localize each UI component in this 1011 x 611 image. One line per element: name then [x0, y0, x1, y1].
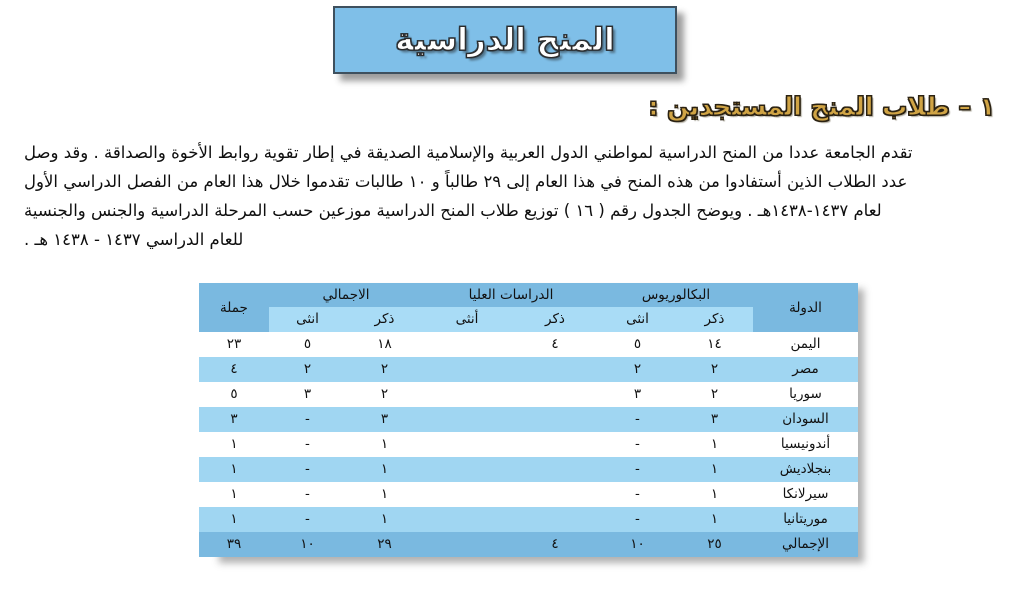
- table-body: اليمن١٤٥٤١٨٥٢٣مصر٢٢٢٢٤سوريا٢٣٢٣٥السودان٣…: [199, 332, 858, 532]
- cell-country: سيرلانكا: [753, 482, 858, 507]
- paragraph-line-4: للعام الدراسي ١٤٣٧ - ١٤٣٨ هـ .: [24, 225, 989, 254]
- cell-total-female: -: [269, 407, 346, 432]
- table-row: اليمن١٤٥٤١٨٥٢٣: [199, 332, 858, 357]
- cell-graduate-male: ٤: [511, 332, 599, 357]
- subheader-bachelor-female: انثى: [599, 307, 676, 332]
- cell-country: أندونيسيا: [753, 432, 858, 457]
- title-banner-container: المنح الدراسية: [333, 6, 677, 74]
- cell-graduate-female: [423, 482, 511, 507]
- table-row: سوريا٢٣٢٣٥: [199, 382, 858, 407]
- cell-sum: ١: [199, 432, 269, 457]
- cell-bachelor-male: ١: [676, 432, 753, 457]
- paragraph-line-1: تقدم الجامعة عددا من المنح الدراسية لموا…: [24, 138, 989, 167]
- cell-total-male: ١: [346, 507, 423, 532]
- table-row: موريتانيا١-١-١: [199, 507, 858, 532]
- cell-graduate-male: [511, 407, 599, 432]
- cell-bachelor-male: ٢: [676, 357, 753, 382]
- header-bachelor: البكالوريوس: [599, 283, 753, 307]
- total-cell-bachelor-female: ١٠: [599, 532, 676, 557]
- cell-graduate-female: [423, 407, 511, 432]
- table-row: سيرلانكا١-١-١: [199, 482, 858, 507]
- cell-graduate-female: [423, 432, 511, 457]
- cell-total-female: ٣: [269, 382, 346, 407]
- cell-graduate-female: [423, 382, 511, 407]
- cell-bachelor-female: -: [599, 407, 676, 432]
- total-cell-total-male: ٢٩: [346, 532, 423, 557]
- cell-bachelor-male: ٣: [676, 407, 753, 432]
- cell-graduate-male: [511, 382, 599, 407]
- paragraph-line-3: لعام ١٤٣٧-١٤٣٨هـ . ويوضح الجدول رقم ( ١٦…: [24, 196, 989, 225]
- total-cell-graduate-female: [423, 532, 511, 557]
- cell-country: سوريا: [753, 382, 858, 407]
- cell-sum: ٢٣: [199, 332, 269, 357]
- cell-graduate-male: [511, 432, 599, 457]
- cell-country: موريتانيا: [753, 507, 858, 532]
- table-row: بنجلاديش١-١-١: [199, 457, 858, 482]
- table-header: الدولة البكالوريوس الدراسات العليا الاجم…: [199, 283, 858, 332]
- table-header-group-row: الدولة البكالوريوس الدراسات العليا الاجم…: [199, 283, 858, 307]
- cell-graduate-female: [423, 507, 511, 532]
- header-sum: جملة: [199, 283, 269, 332]
- total-cell-bachelor-male: ٢٥: [676, 532, 753, 557]
- cell-sum: ١: [199, 482, 269, 507]
- table-row: مصر٢٢٢٢٤: [199, 357, 858, 382]
- cell-total-male: ١: [346, 482, 423, 507]
- subheader-total-male: ذكر: [346, 307, 423, 332]
- cell-bachelor-male: ١: [676, 482, 753, 507]
- header-country: الدولة: [753, 283, 858, 332]
- cell-graduate-male: [511, 482, 599, 507]
- grants-table: الدولة البكالوريوس الدراسات العليا الاجم…: [199, 283, 858, 557]
- page-title: المنح الدراسية: [395, 22, 614, 58]
- cell-total-female: ٥: [269, 332, 346, 357]
- cell-bachelor-male: ١٤: [676, 332, 753, 357]
- cell-graduate-female: [423, 357, 511, 382]
- cell-total-male: ٣: [346, 407, 423, 432]
- cell-bachelor-female: -: [599, 482, 676, 507]
- cell-sum: ٣: [199, 407, 269, 432]
- cell-bachelor-male: ١: [676, 507, 753, 532]
- cell-country: بنجلاديش: [753, 457, 858, 482]
- total-cell-sum: ٣٩: [199, 532, 269, 557]
- cell-graduate-female: [423, 332, 511, 357]
- section-heading: ١ – طلاب المنح المستجدين :: [15, 92, 995, 121]
- cell-total-female: -: [269, 507, 346, 532]
- cell-bachelor-female: ٢: [599, 357, 676, 382]
- cell-bachelor-female: ٣: [599, 382, 676, 407]
- cell-total-female: ٢: [269, 357, 346, 382]
- cell-country: مصر: [753, 357, 858, 382]
- body-paragraph: تقدم الجامعة عددا من المنح الدراسية لموا…: [24, 138, 989, 254]
- cell-graduate-male: [511, 357, 599, 382]
- subheader-graduate-female: أنثى: [423, 307, 511, 332]
- cell-bachelor-male: ٢: [676, 382, 753, 407]
- table-total-row: الإجمالي٢٥١٠٤٢٩١٠٣٩: [199, 532, 858, 557]
- table-footer: الإجمالي٢٥١٠٤٢٩١٠٣٩: [199, 532, 858, 557]
- table-row: أندونيسيا١-١-١: [199, 432, 858, 457]
- cell-sum: ٤: [199, 357, 269, 382]
- cell-country: اليمن: [753, 332, 858, 357]
- title-banner: المنح الدراسية: [333, 6, 677, 74]
- subheader-bachelor-male: ذكر: [676, 307, 753, 332]
- cell-graduate-female: [423, 457, 511, 482]
- subheader-total-female: انثى: [269, 307, 346, 332]
- cell-bachelor-female: ٥: [599, 332, 676, 357]
- header-total: الاجمالي: [269, 283, 423, 307]
- cell-total-male: ٢: [346, 357, 423, 382]
- cell-total-male: ١: [346, 432, 423, 457]
- cell-graduate-male: [511, 457, 599, 482]
- cell-sum: ١: [199, 457, 269, 482]
- total-cell-total-female: ١٠: [269, 532, 346, 557]
- cell-total-female: -: [269, 432, 346, 457]
- cell-bachelor-female: -: [599, 432, 676, 457]
- cell-graduate-male: [511, 507, 599, 532]
- total-cell-graduate-male: ٤: [511, 532, 599, 557]
- header-graduate: الدراسات العليا: [423, 283, 599, 307]
- cell-total-male: ١: [346, 457, 423, 482]
- cell-sum: ٥: [199, 382, 269, 407]
- cell-total-female: -: [269, 457, 346, 482]
- table-row: السودان٣-٣-٣: [199, 407, 858, 432]
- cell-total-male: ٢: [346, 382, 423, 407]
- cell-country: السودان: [753, 407, 858, 432]
- cell-sum: ١: [199, 507, 269, 532]
- grants-table-container: الدولة البكالوريوس الدراسات العليا الاجم…: [213, 283, 858, 557]
- cell-bachelor-female: -: [599, 507, 676, 532]
- cell-bachelor-female: -: [599, 457, 676, 482]
- cell-bachelor-male: ١: [676, 457, 753, 482]
- total-cell-country: الإجمالي: [753, 532, 858, 557]
- cell-total-female: -: [269, 482, 346, 507]
- cell-total-male: ١٨: [346, 332, 423, 357]
- paragraph-line-2: عدد الطلاب الذين أستفادوا من هذه المنح ف…: [24, 167, 989, 196]
- subheader-graduate-male: ذكر: [511, 307, 599, 332]
